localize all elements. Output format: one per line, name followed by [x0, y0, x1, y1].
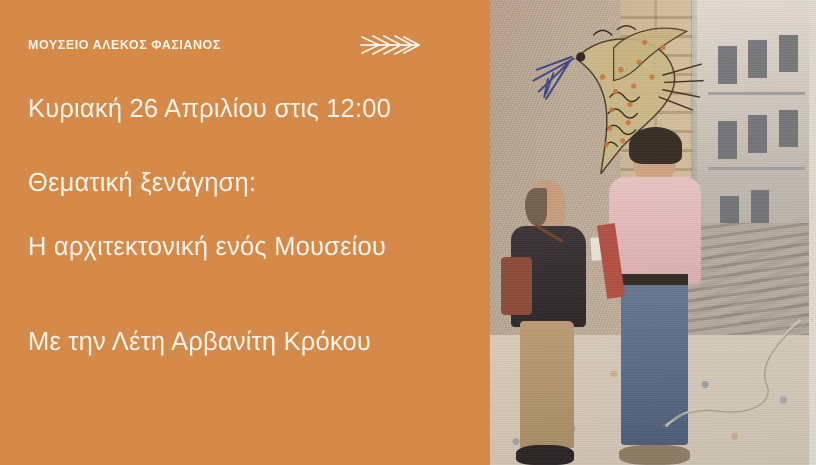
event-kind: Θεματική ξενάγηση:: [28, 168, 464, 198]
event-text-block: Κυριακή 26 Απριλίου στις 12:00 Θεματική …: [28, 94, 464, 358]
archival-photo: [490, 0, 816, 465]
figure-b-hair: [629, 127, 682, 164]
figure-b-shirt: [609, 177, 701, 284]
feather-arrow-logo: [355, 29, 425, 61]
event-poster: ΜΟΥΣΕΙΟ ΑΛΕΚΟΣ ΦΑΣΙΑΝΟΣ: [0, 0, 816, 465]
photo-print-border: [809, 0, 816, 465]
event-title: Η αρχιτεκτονική ενός Μουσείου: [28, 231, 388, 264]
figure-older-man: [506, 177, 591, 465]
electrical-cable: [660, 279, 810, 465]
event-date: Κυριακή 26 Απριλίου στις 12:00: [28, 94, 464, 124]
museum-name: ΜΟΥΣΕΙΟ ΑΛΕΚΟΣ ΦΑΣΙΑΝΟΣ: [28, 39, 221, 52]
figure-a-trousers: [520, 321, 574, 448]
figure-a-shoes: [516, 445, 574, 465]
figure-a-hair: [525, 188, 547, 225]
orange-info-panel: ΜΟΥΣΕΙΟ ΑΛΕΚΟΣ ΦΑΣΙΑΝΟΣ: [0, 0, 490, 465]
photo-frame: [490, 0, 816, 465]
event-speaker: Με την Λέτη Αρβανίτη Κρόκου: [28, 326, 408, 359]
brand-bar: ΜΟΥΣΕΙΟ ΑΛΕΚΟΣ ΦΑΣΙΑΝΟΣ: [28, 28, 464, 62]
